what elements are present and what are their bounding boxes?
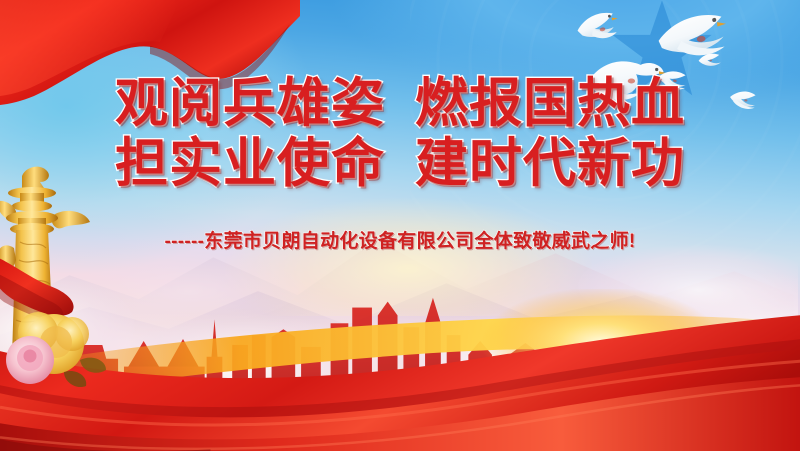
title-line-1-left: 观阅兵雄姿: [115, 75, 385, 133]
dove-icon: [575, 10, 621, 43]
title-line-1-right: 燃报国热血: [415, 75, 685, 133]
poster-canvas: 观阅兵雄姿燃报国热血 担实业使命建时代新功 ------东莞市贝朗自动化设备有限…: [0, 0, 800, 451]
poster-title-block: 观阅兵雄姿燃报国热血 担实业使命建时代新功: [0, 74, 800, 194]
dove-icon: [656, 13, 729, 60]
title-line-2-right: 建时代新功: [415, 135, 685, 193]
poster-subtitle: ------东莞市贝朗自动化设备有限公司全体致敬威武之师!: [0, 226, 800, 253]
title-line-1: 观阅兵雄姿燃报国热血: [0, 74, 800, 134]
title-line-2-left: 担实业使命: [115, 135, 385, 193]
title-line-2: 担实业使命建时代新功: [0, 134, 800, 194]
golden-huabiao-column: [0, 160, 124, 410]
